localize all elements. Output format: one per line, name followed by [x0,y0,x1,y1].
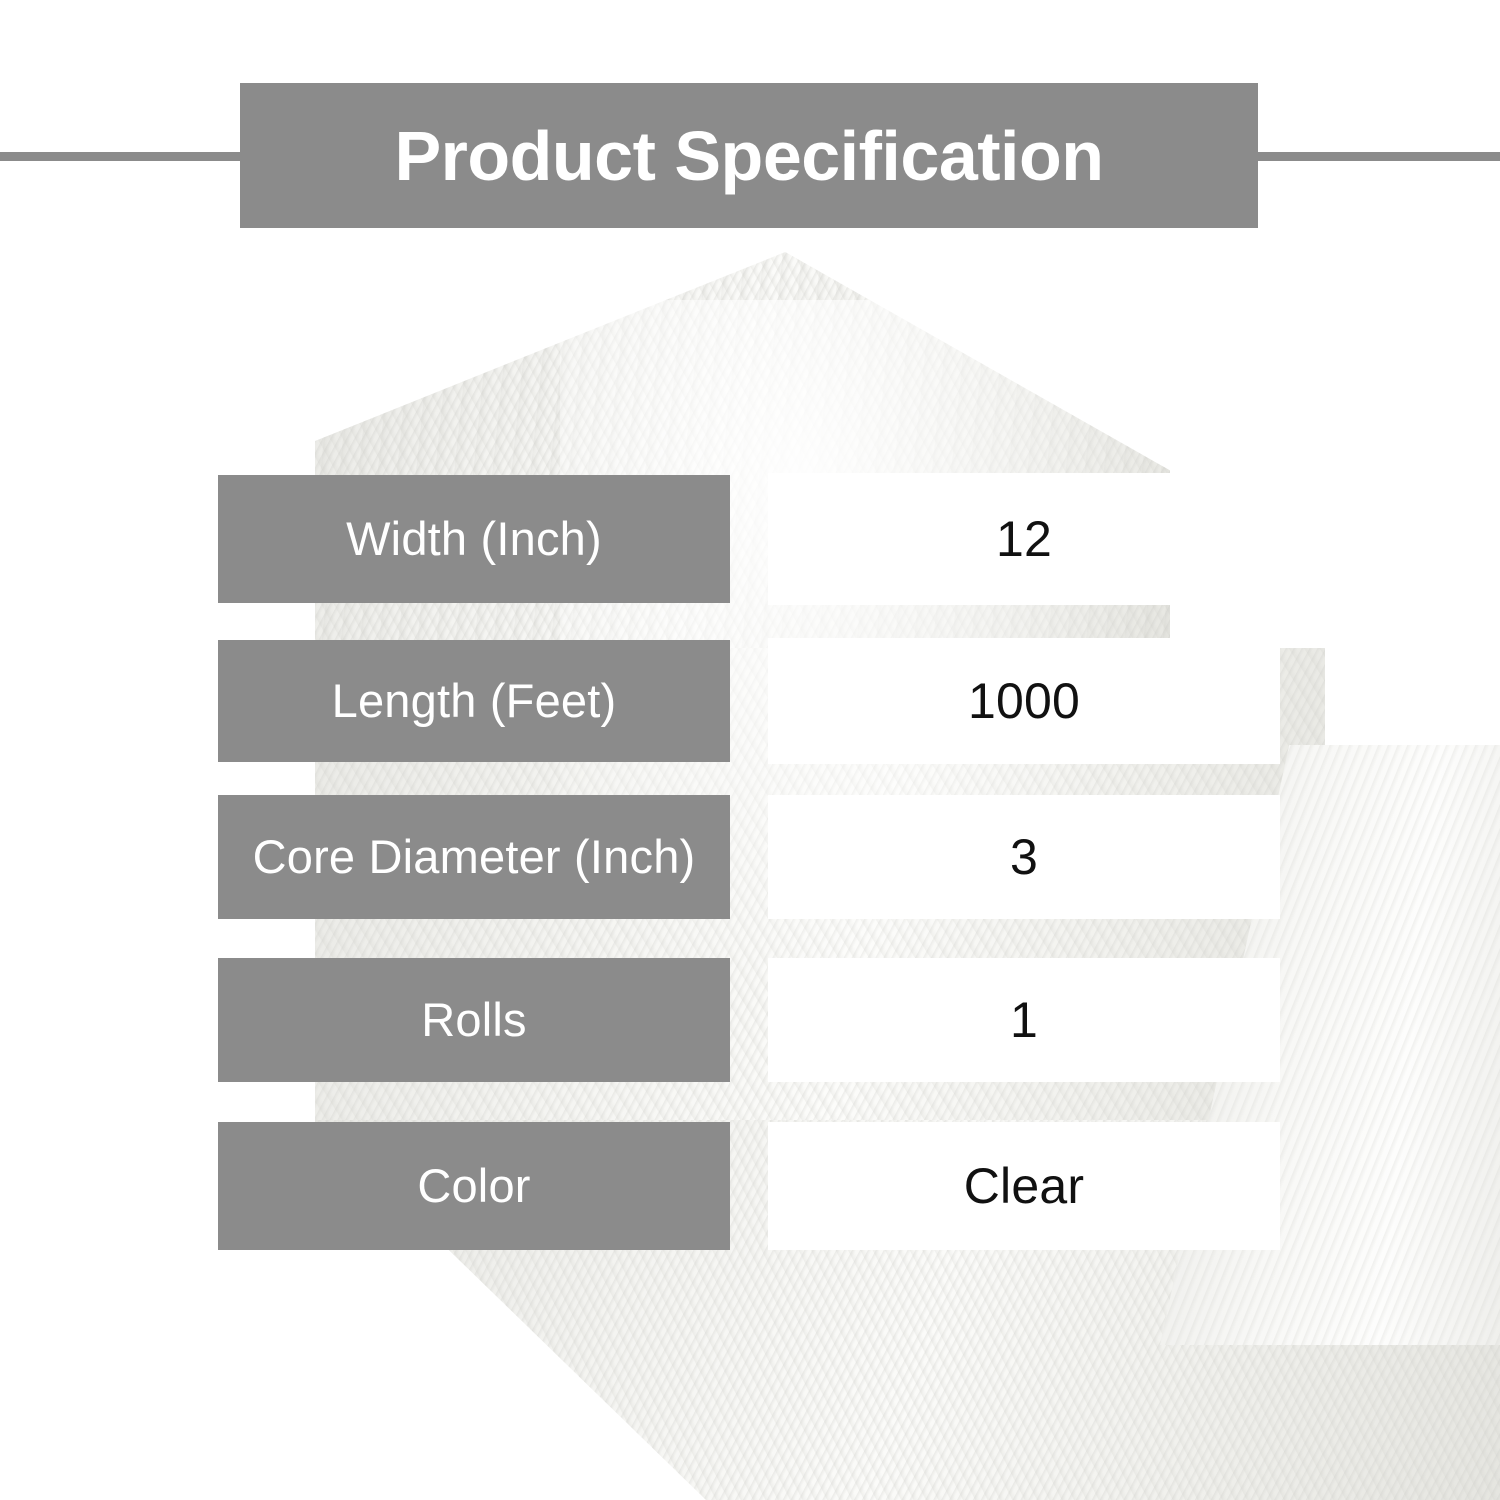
spec-label-cell: Rolls [218,958,730,1082]
spec-value-text: 3 [1010,832,1038,882]
spec-value-text: Clear [964,1161,1084,1211]
spec-value-text: 12 [996,514,1052,564]
spec-value-cell: 3 [768,795,1280,919]
table-row: Width (Inch) 12 [218,475,1280,603]
spec-value-text: 1 [1010,995,1038,1045]
spec-label-text: Rolls [421,995,526,1044]
spec-value-cell: 1 [768,958,1280,1082]
specification-table: Width (Inch) 12 Length (Feet) 1000 Core … [0,0,1500,1500]
spec-label-text: Color [417,1161,530,1210]
spec-label-text: Core Diameter (Inch) [253,832,696,881]
spec-label-cell: Color [218,1122,730,1250]
product-specification-page: Product Specification Width (Inch) 12 Le… [0,0,1500,1500]
spec-value-cell: 1000 [768,638,1280,764]
spec-label-text: Length (Feet) [332,676,617,725]
spec-value-cell: Clear [768,1122,1280,1250]
table-row: Rolls 1 [218,958,1280,1082]
table-row: Core Diameter (Inch) 3 [218,795,1280,919]
spec-label-text: Width (Inch) [346,514,602,563]
spec-value-text: 1000 [968,676,1080,726]
spec-label-cell: Core Diameter (Inch) [218,795,730,919]
spec-label-cell: Length (Feet) [218,640,730,762]
spec-value-cell: 12 [768,473,1280,605]
table-row: Color Clear [218,1122,1280,1250]
spec-label-cell: Width (Inch) [218,475,730,603]
table-row: Length (Feet) 1000 [218,640,1280,762]
